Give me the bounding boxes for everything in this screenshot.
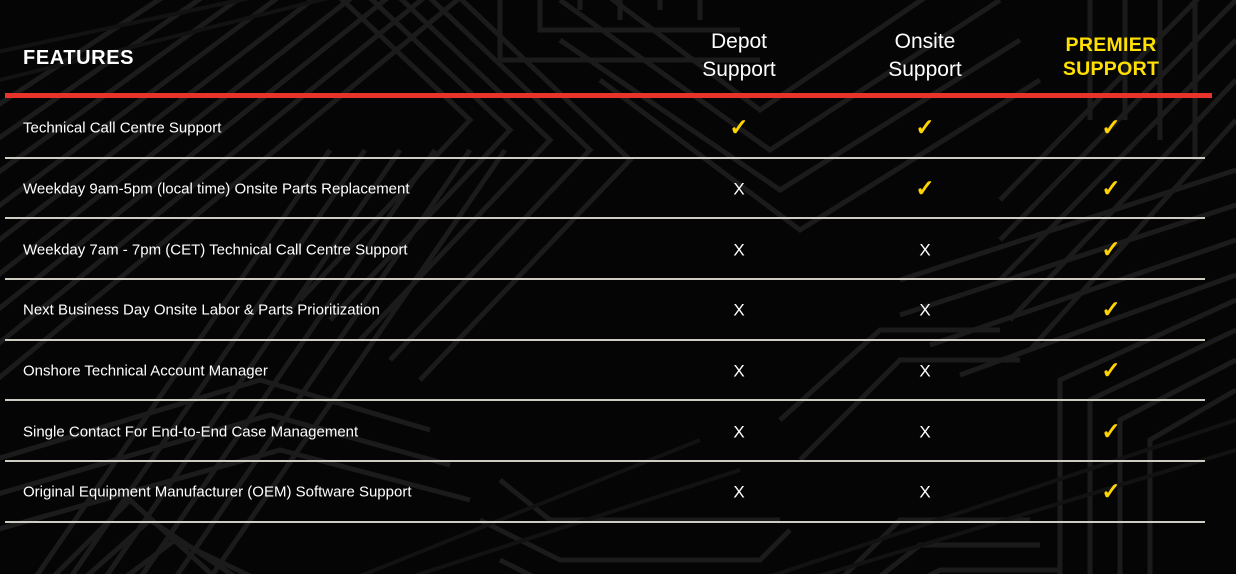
availability-cell: ✓ bbox=[654, 116, 824, 140]
cross-icon: X bbox=[733, 360, 744, 383]
column-header-depot-line1: Depot bbox=[654, 28, 824, 56]
availability-cell: X bbox=[654, 178, 824, 201]
check-icon: ✓ bbox=[1101, 116, 1120, 139]
column-header-depot-line2: Support bbox=[654, 56, 824, 84]
feature-label: Onshore Technical Account Manager bbox=[23, 363, 268, 380]
feature-label: Single Contact For End-to-End Case Manag… bbox=[23, 423, 358, 440]
availability-cell: X bbox=[654, 299, 824, 322]
cross-icon: X bbox=[733, 299, 744, 322]
column-header-onsite-support: Onsite Support bbox=[840, 28, 1010, 84]
feature-comparison-grid: FEATURES Depot Support Onsite Support PR… bbox=[0, 0, 1236, 574]
support-comparison-table: FEATURES Depot Support Onsite Support PR… bbox=[0, 0, 1236, 574]
check-icon: ✓ bbox=[915, 116, 934, 139]
feature-label: Original Equipment Manufacturer (OEM) So… bbox=[23, 484, 412, 501]
row-divider bbox=[5, 521, 1205, 523]
cross-icon: X bbox=[919, 299, 930, 322]
check-icon: ✓ bbox=[1101, 359, 1120, 382]
check-icon: ✓ bbox=[729, 116, 748, 139]
availability-cell: X bbox=[840, 420, 1010, 443]
cross-icon: X bbox=[733, 238, 744, 261]
availability-cell: X bbox=[840, 481, 1010, 504]
availability-cell: ✓ bbox=[1026, 420, 1196, 444]
check-icon: ✓ bbox=[1101, 420, 1120, 443]
column-header-premier-support: PREMIER SUPPORT bbox=[1026, 33, 1196, 81]
check-icon: ✓ bbox=[1101, 238, 1120, 261]
availability-cell: ✓ bbox=[1026, 116, 1196, 140]
availability-cell: ✓ bbox=[840, 177, 1010, 201]
feature-label: Weekday 7am - 7pm (CET) Technical Call C… bbox=[23, 241, 408, 258]
column-header-onsite-line2: Support bbox=[840, 56, 1010, 84]
cross-icon: X bbox=[919, 481, 930, 504]
table-row: Single Contact For End-to-End Case Manag… bbox=[0, 401, 1236, 462]
cross-icon: X bbox=[919, 360, 930, 383]
availability-cell: X bbox=[654, 360, 824, 383]
column-header-onsite-line1: Onsite bbox=[840, 28, 1010, 56]
availability-cell: X bbox=[840, 238, 1010, 261]
header-accent-rule bbox=[5, 93, 1212, 98]
features-column-title: FEATURES bbox=[23, 47, 134, 70]
availability-cell: X bbox=[654, 481, 824, 504]
availability-cell: X bbox=[840, 299, 1010, 322]
table-row: Weekday 9am-5pm (local time) Onsite Part… bbox=[0, 159, 1236, 220]
check-icon: ✓ bbox=[915, 177, 934, 200]
feature-label: Weekday 9am-5pm (local time) Onsite Part… bbox=[23, 181, 410, 198]
cross-icon: X bbox=[919, 420, 930, 443]
table-row: Onshore Technical Account ManagerXX✓ bbox=[0, 341, 1236, 402]
column-header-premier-line1: PREMIER bbox=[1026, 33, 1196, 57]
feature-label: Technical Call Centre Support bbox=[23, 120, 221, 137]
check-icon: ✓ bbox=[1101, 177, 1120, 200]
table-row: Next Business Day Onsite Labor & Parts P… bbox=[0, 280, 1236, 341]
table-row: Weekday 7am - 7pm (CET) Technical Call C… bbox=[0, 219, 1236, 280]
column-header-premier-line2: SUPPORT bbox=[1026, 57, 1196, 81]
cross-icon: X bbox=[733, 481, 744, 504]
check-icon: ✓ bbox=[1101, 298, 1120, 321]
availability-cell: X bbox=[840, 360, 1010, 383]
table-row: Technical Call Centre Support✓✓✓ bbox=[0, 98, 1236, 159]
availability-cell: ✓ bbox=[1026, 480, 1196, 504]
availability-cell: ✓ bbox=[1026, 177, 1196, 201]
cross-icon: X bbox=[733, 178, 744, 201]
table-header: FEATURES Depot Support Onsite Support PR… bbox=[0, 0, 1236, 93]
column-header-depot-support: Depot Support bbox=[654, 28, 824, 84]
availability-cell: ✓ bbox=[1026, 238, 1196, 262]
cross-icon: X bbox=[919, 238, 930, 261]
check-icon: ✓ bbox=[1101, 480, 1120, 503]
table-body: Technical Call Centre Support✓✓✓Weekday … bbox=[0, 98, 1236, 523]
cross-icon: X bbox=[733, 420, 744, 443]
table-row: Original Equipment Manufacturer (OEM) So… bbox=[0, 462, 1236, 523]
availability-cell: ✓ bbox=[1026, 359, 1196, 383]
availability-cell: X bbox=[654, 420, 824, 443]
feature-label: Next Business Day Onsite Labor & Parts P… bbox=[23, 302, 380, 319]
availability-cell: X bbox=[654, 238, 824, 261]
availability-cell: ✓ bbox=[840, 116, 1010, 140]
availability-cell: ✓ bbox=[1026, 298, 1196, 322]
